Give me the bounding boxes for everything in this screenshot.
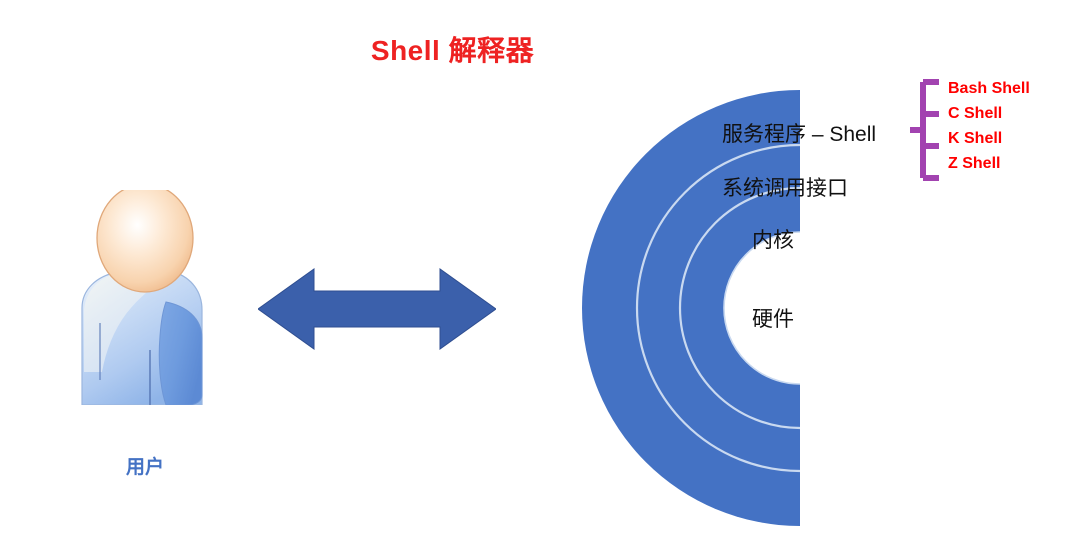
shell-variant-item: C Shell: [948, 105, 1002, 123]
ring-label-syscall: 系统调用接口: [722, 172, 848, 202]
shell-variant-item: K Shell: [948, 130, 1002, 148]
ring-label-hardware: 硬件: [752, 303, 794, 333]
user-person-icon: [70, 190, 220, 405]
double-headed-arrow-icon: [258, 265, 496, 353]
curly-brace-icon: [908, 76, 942, 184]
diagram-canvas: Shell 解释器: [0, 0, 1075, 553]
shell-variant-item: Z Shell: [948, 155, 1000, 173]
page-title: Shell 解释器: [0, 29, 905, 69]
shell-variants-list: Bash Shell C Shell K Shell Z Shell: [944, 76, 1074, 188]
ring-label-kernel: 内核: [752, 224, 794, 254]
shell-variant-item: Bash Shell: [948, 80, 1030, 98]
user-label: 用户: [60, 452, 230, 479]
ring-label-service: 服务程序 – Shell: [722, 118, 876, 148]
